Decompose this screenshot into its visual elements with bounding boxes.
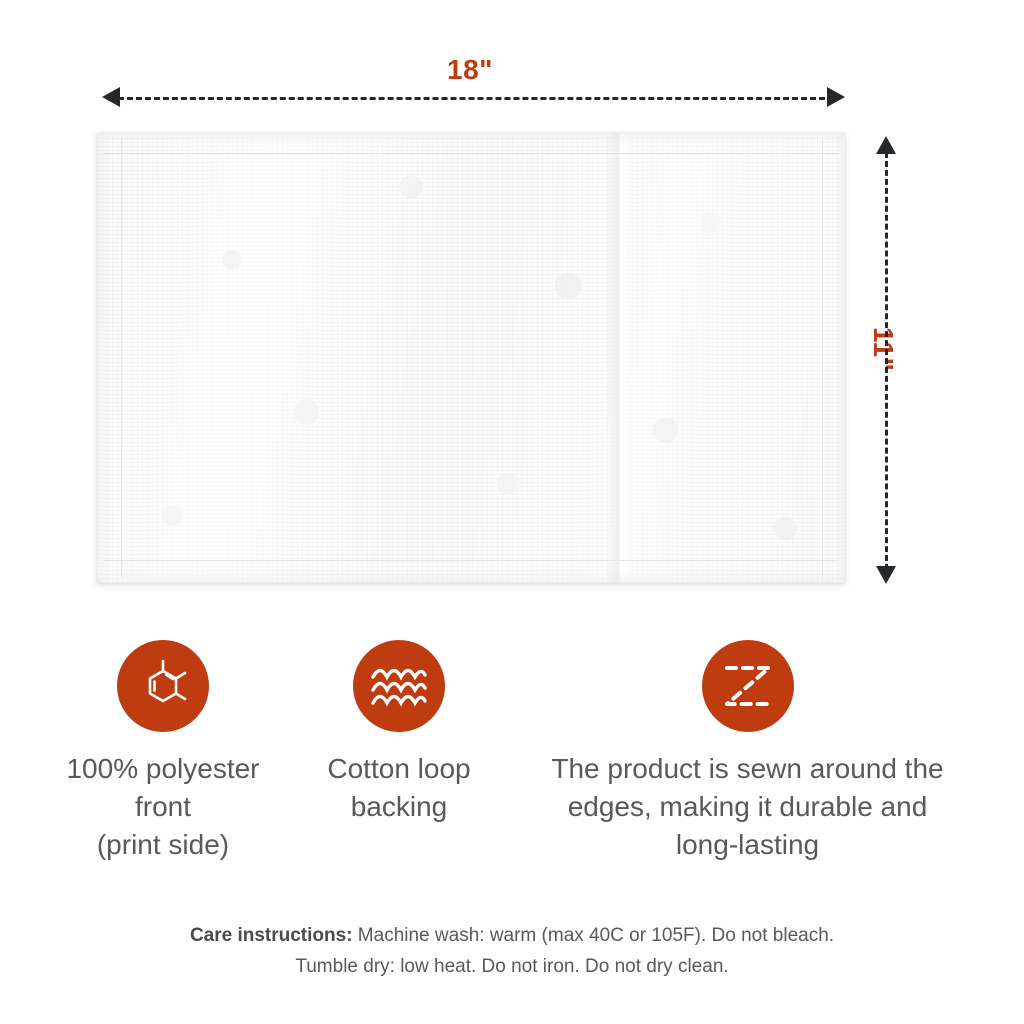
- zigzag-stitch-icon: [721, 659, 775, 713]
- feature-polyester-front: 100% polyester front (print side): [32, 640, 294, 864]
- arrow-down-icon: [876, 566, 896, 584]
- feature-sewn-edges: The product is sewn around the edges, ma…: [500, 640, 995, 864]
- product-image-towel: [97, 133, 845, 583]
- feature-cotton-loop-backing: Cotton loop backing: [288, 640, 510, 826]
- width-dimension-label: 18": [0, 56, 940, 84]
- feature-badge: [117, 640, 209, 732]
- height-dimension-label: 11": [869, 327, 897, 371]
- feature-badge: [353, 640, 445, 732]
- height-dimension-value: 11": [868, 327, 899, 371]
- feature-caption: Cotton loop backing: [288, 750, 510, 826]
- care-line-1: Care instructions: Machine wash: warm (m…: [0, 920, 1024, 951]
- feature-caption: 100% polyester front (print side): [32, 750, 294, 864]
- care-instructions: Care instructions: Machine wash: warm (m…: [0, 920, 1024, 983]
- feature-badge: [702, 640, 794, 732]
- arrow-up-icon: [876, 136, 896, 154]
- care-instructions-text-1: Machine wash: warm (max 40C or 105F). Do…: [353, 925, 835, 946]
- feature-caption: The product is sewn around the edges, ma…: [500, 750, 995, 864]
- towel-edge-shading: [97, 133, 845, 583]
- arrow-left-icon: [102, 87, 120, 107]
- width-dimension-line: [118, 97, 834, 100]
- loop-texture-icon: [369, 661, 429, 711]
- care-line-2: Tumble dry: low heat. Do not iron. Do no…: [0, 951, 1024, 982]
- care-instructions-label: Care instructions:: [190, 925, 353, 946]
- arrow-right-icon: [827, 87, 845, 107]
- molecule-icon: [134, 657, 192, 715]
- height-dimension-line: [885, 152, 888, 570]
- width-dimension-value: 18": [447, 56, 493, 84]
- infographic-canvas: 18" 11": [0, 0, 1024, 1024]
